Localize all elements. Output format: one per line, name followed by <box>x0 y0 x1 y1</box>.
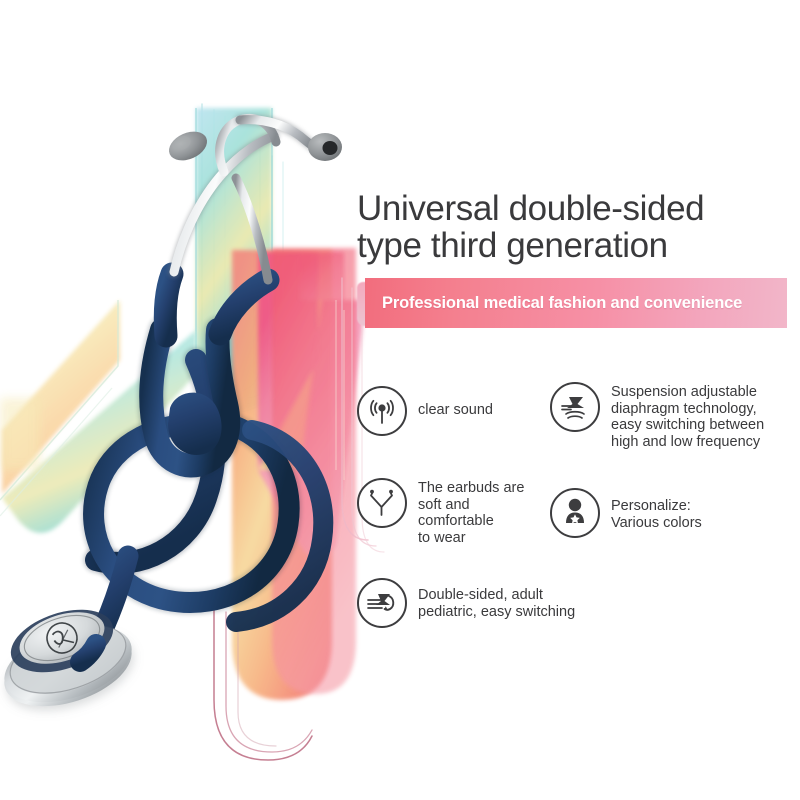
banner-text: Professional medical fashion and conveni… <box>365 294 742 313</box>
headline-line-2: type third generation <box>357 227 787 264</box>
feature-item-double-sided: Double-sided, adult pediatric, easy swit… <box>357 578 657 628</box>
feature-label: The earbuds are soft and comfortable to … <box>418 478 524 546</box>
banner-body: Professional medical fashion and conveni… <box>365 278 787 328</box>
page-title: Universal double-sided type third genera… <box>357 190 787 264</box>
feature-label: Personalize: Various colors <box>611 488 702 531</box>
feature-item-personalize: Personalize: Various colors <box>550 488 790 538</box>
feature-label: clear sound <box>418 386 493 419</box>
sound-waves-icon <box>357 386 407 436</box>
copy-column: Universal double-sided type third genera… <box>357 190 787 330</box>
feature-item-clear-sound: clear sound <box>357 386 557 436</box>
eartip-right <box>308 133 342 161</box>
feature-item-earbuds: The earbuds are soft and comfortable to … <box>357 478 552 546</box>
product-banner: Universal double-sided type third genera… <box>0 0 800 800</box>
feature-list: clear sound Suspension adjustable diaphr… <box>357 382 797 642</box>
double-sided-head-icon <box>357 578 407 628</box>
person-star-icon <box>550 488 600 538</box>
feature-label: Double-sided, adult pediatric, easy swit… <box>418 578 575 620</box>
headline-line-1: Universal double-sided <box>357 189 704 228</box>
feature-item-diaphragm: Suspension adjustable diaphragm technolo… <box>550 382 800 450</box>
tagline-banner: Professional medical fashion and conveni… <box>357 278 787 330</box>
diaphragm-icon <box>550 382 600 432</box>
binaural-earbuds-icon <box>357 478 407 528</box>
feature-label: Suspension adjustable diaphragm technolo… <box>611 382 764 450</box>
